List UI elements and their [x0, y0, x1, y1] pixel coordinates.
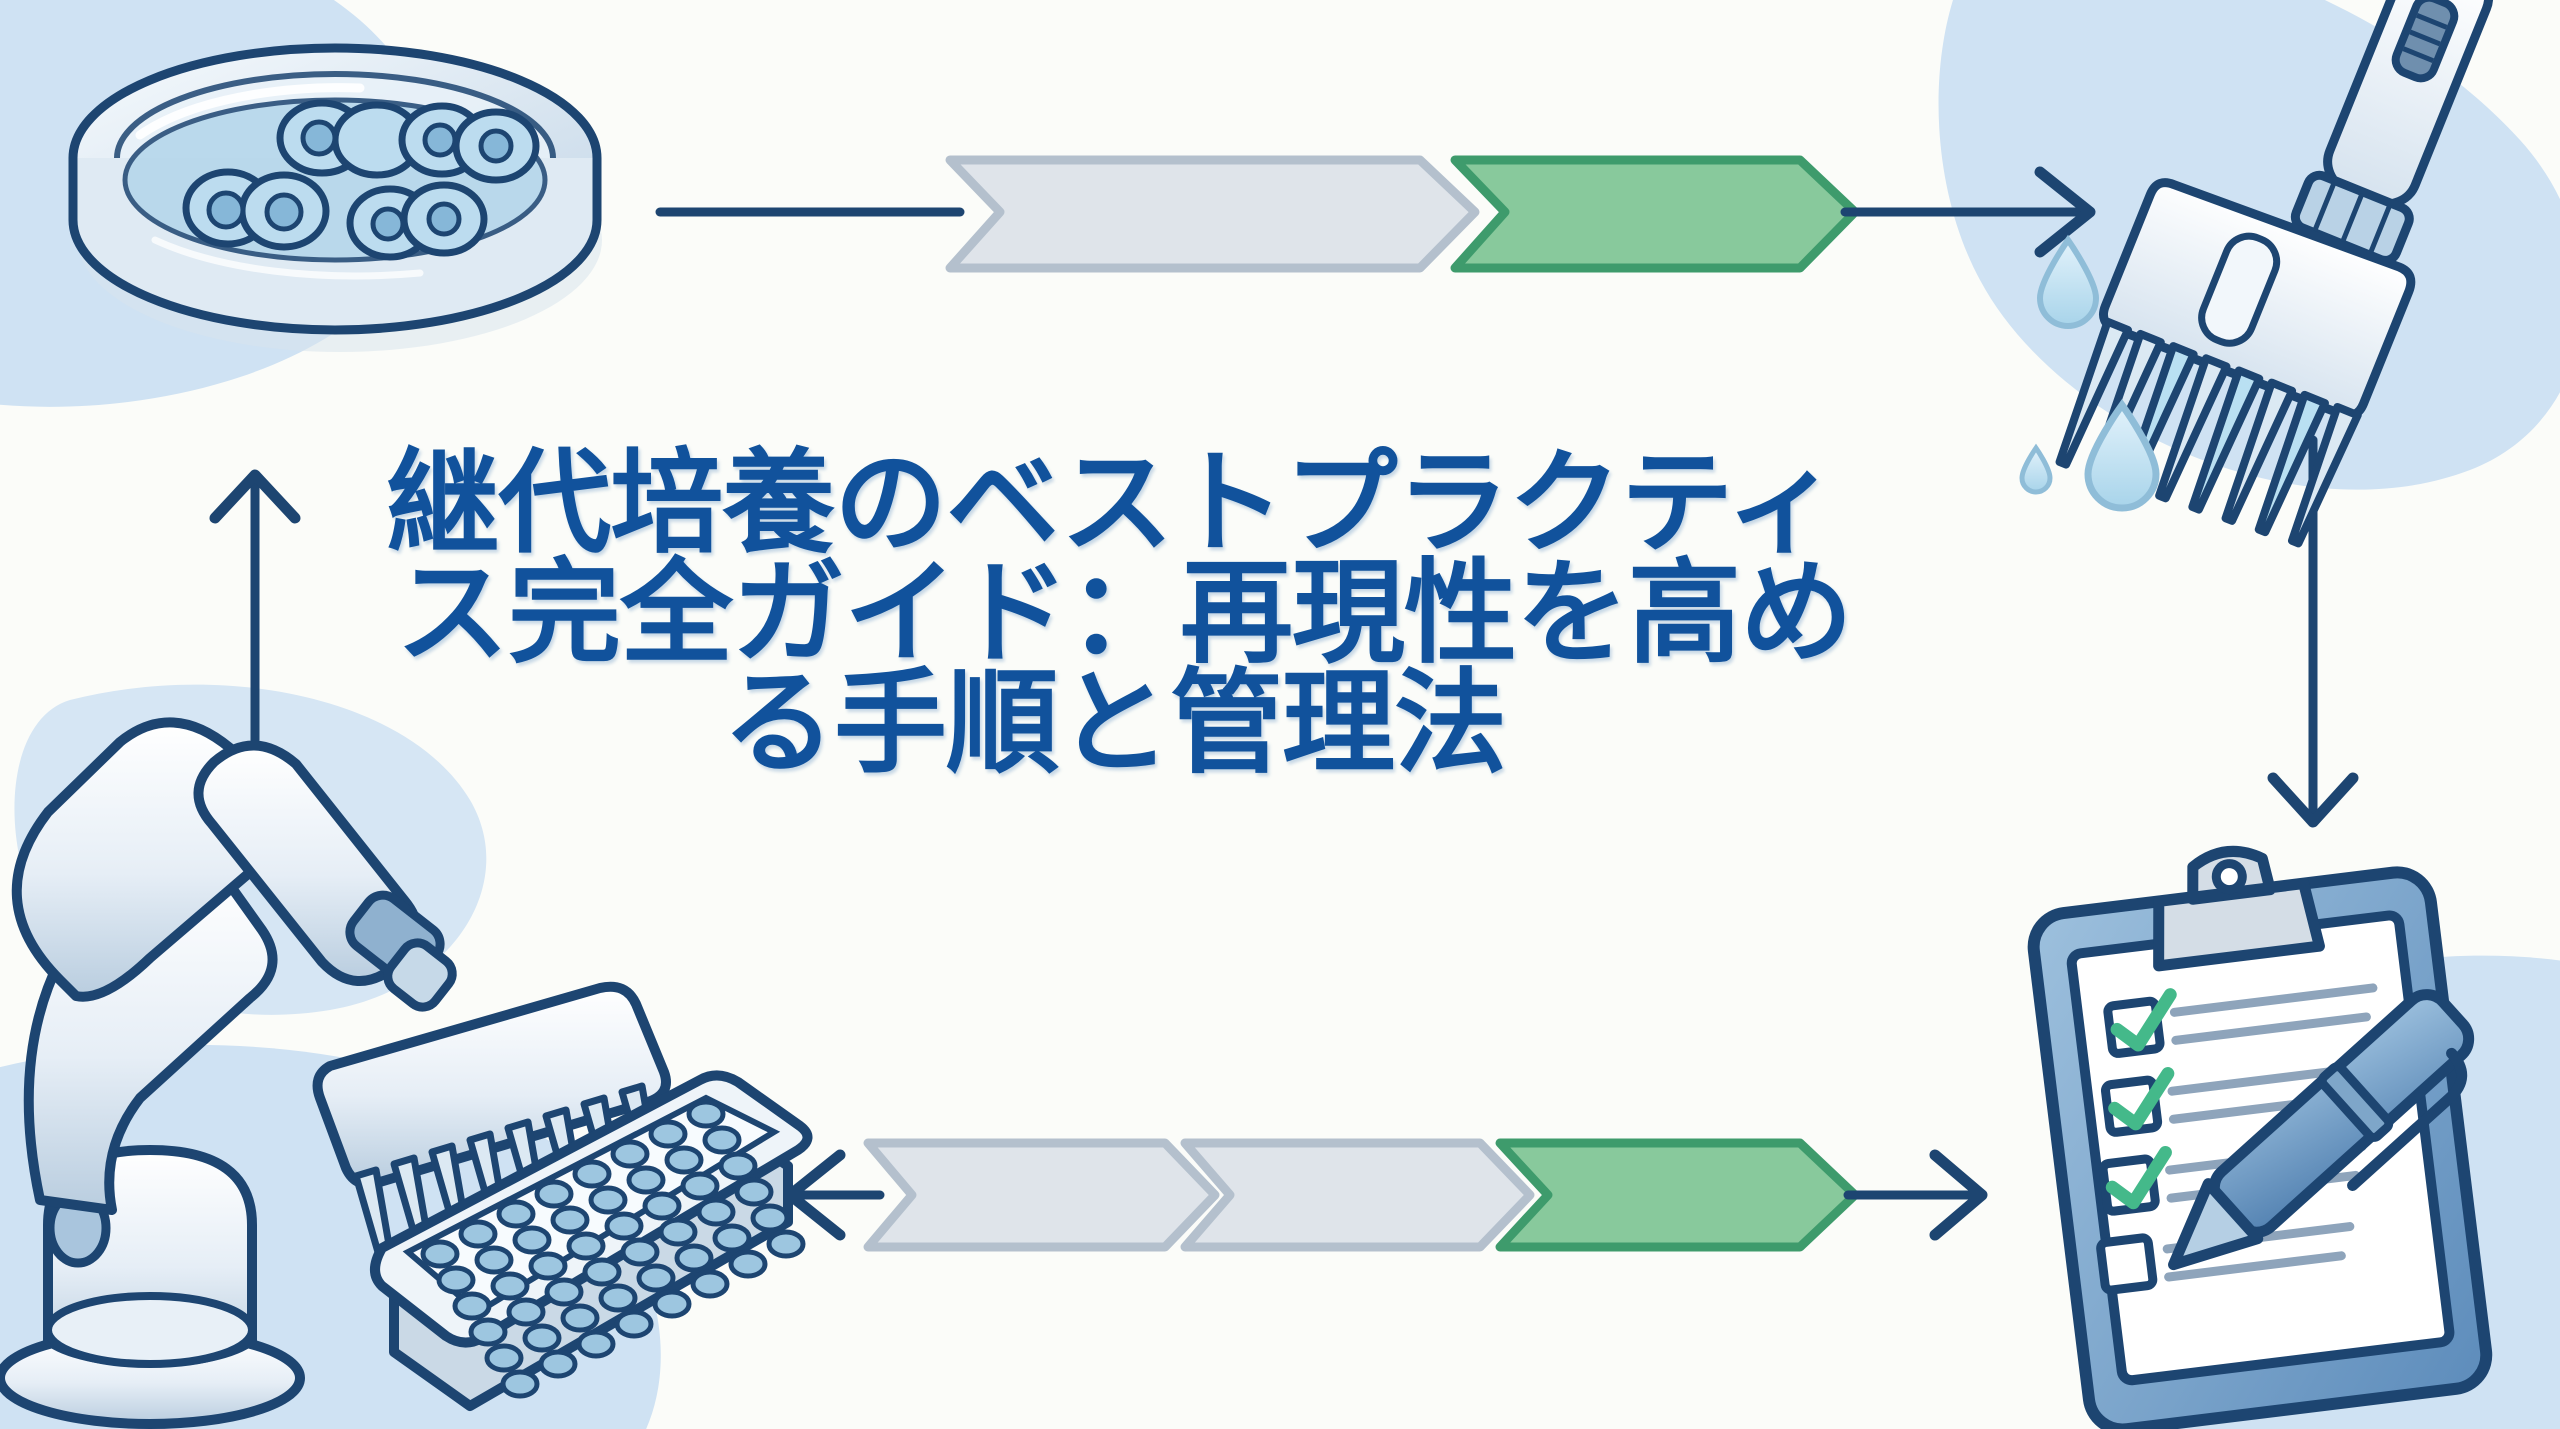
clipboard-checklist-illustration [0, 0, 2560, 1429]
checkbox-unchecked[interactable] [2100, 1237, 2153, 1290]
hero-banner: 継代培養のベストプラクティ ス完全ガイド：再現性を高め る手順と管理法 [0, 0, 2560, 1429]
